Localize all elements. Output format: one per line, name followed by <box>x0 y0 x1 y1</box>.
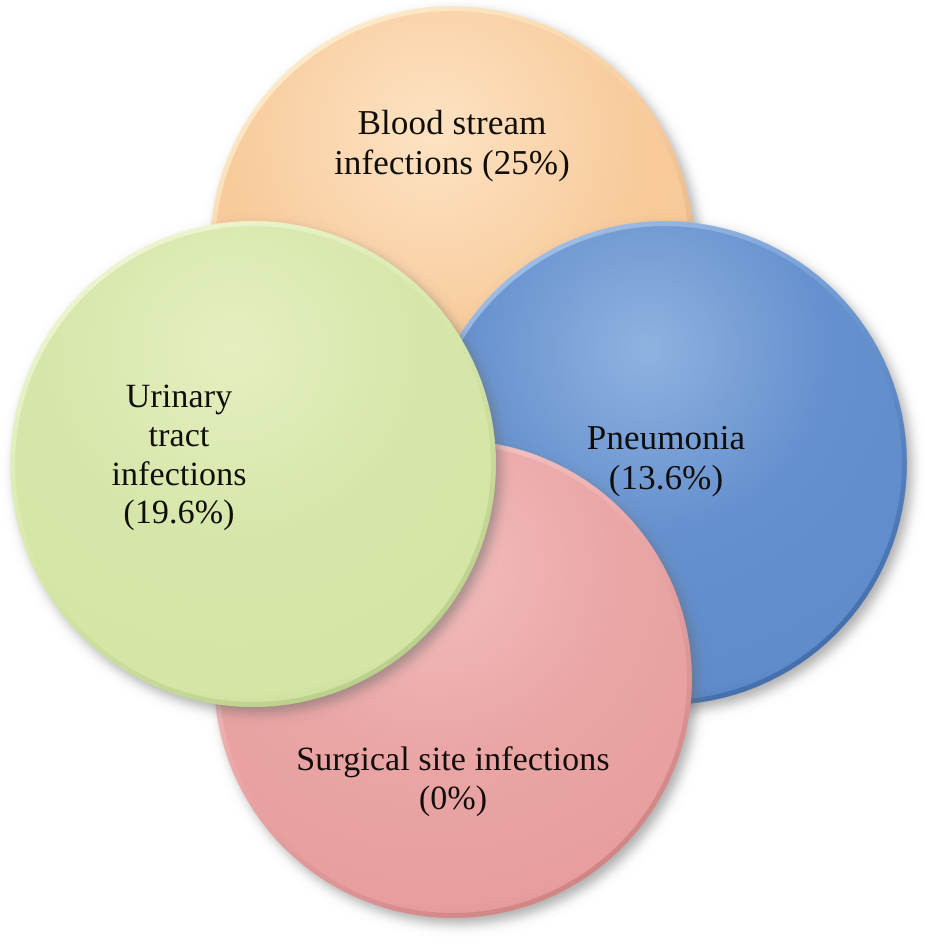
venn-diagram-svg <box>0 0 925 944</box>
circle-urinary-tract-infections[interactable] <box>10 221 496 707</box>
diagram-canvas: Blood stream infections (25%) Pneumonia … <box>0 0 925 944</box>
